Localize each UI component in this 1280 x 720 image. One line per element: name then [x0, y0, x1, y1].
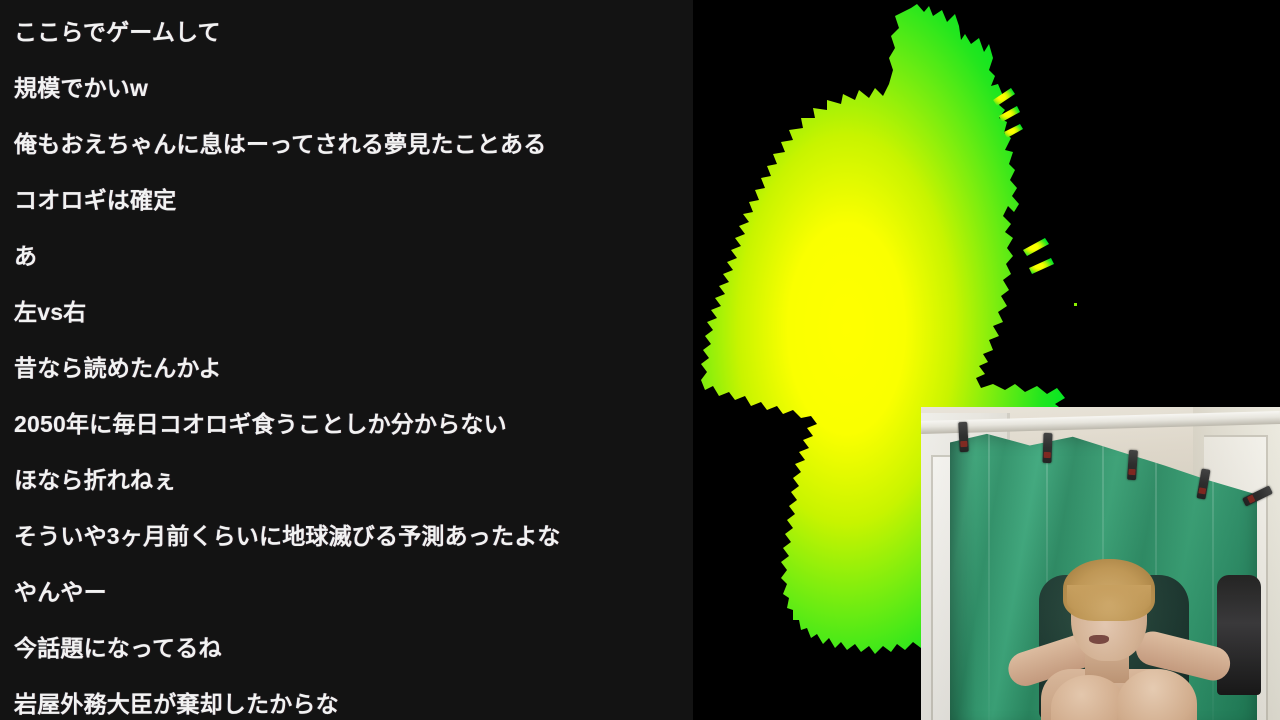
streamer-mouth — [1089, 635, 1109, 644]
stream-screen: ここらでゲームして 規模でかいw 俺もおえちゃんに息はーってされる夢見たことある… — [0, 0, 1280, 720]
comment-line: 俺もおえちゃんに息はーってされる夢見たことある — [0, 116, 693, 172]
comment-line: 規模でかいw — [0, 60, 693, 116]
clothespin-icon — [1042, 433, 1052, 463]
comment-line: 昔なら読めたんかよ — [0, 340, 693, 396]
map-islet — [1029, 258, 1054, 274]
webcam-pip[interactable] — [921, 407, 1280, 720]
map-islet — [1074, 303, 1077, 306]
comment-line: 今話題になってるね — [0, 620, 693, 676]
comment-line: あ — [0, 228, 693, 284]
comment-list: ここらでゲームして 規模でかいw 俺もおえちゃんに息はーってされる夢見たことある… — [0, 0, 693, 720]
streamer-fringe — [1067, 585, 1151, 615]
comment-line: ここらでゲームして — [0, 4, 693, 60]
comment-line: 2050年に毎日コオロギ食うことしか分からない — [0, 396, 693, 452]
comment-panel: ここらでゲームして 規模でかいw 俺もおえちゃんに息はーってされる夢見たことある… — [0, 0, 693, 720]
comment-line: 左vs右 — [0, 284, 693, 340]
clothespin-icon — [958, 422, 969, 452]
comment-line: 岩屋外務大臣が棄却したからな — [0, 676, 693, 720]
curtain-fold — [988, 431, 990, 720]
curtain-shadow — [950, 431, 976, 720]
comment-line: やんやー — [0, 564, 693, 620]
comment-line: コオロギは確定 — [0, 172, 693, 228]
comment-line: そういや3ヶ月前くらいに地球滅びる予測あったよな — [0, 508, 693, 564]
map-islet — [1023, 238, 1049, 256]
comment-line: ほなら折れねぇ — [0, 452, 693, 508]
map-islet — [1004, 124, 1023, 138]
